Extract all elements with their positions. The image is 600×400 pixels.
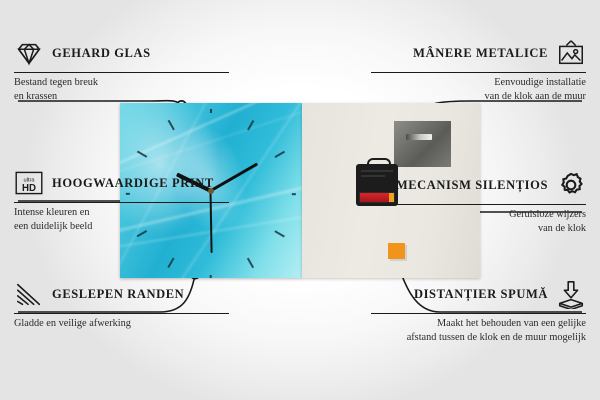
gear-icon [556,170,586,200]
wall-frame-icon [556,38,586,68]
hanger-slot [406,134,432,140]
feature-geslepen-randen: GESLEPEN RANDEN Gladde en veilige afwerk… [14,277,229,331]
feature-rule [371,72,586,73]
feature-rule [371,204,586,205]
feature-desc: Bestand tegen breuk en krassen [14,76,229,104]
feature-hoogwaardige-print: ultra HD HOOGWAARDIGE PRINT Intense kleu… [14,166,229,234]
feature-rule [371,313,586,314]
feature-gehard-glas: GEHARD GLAS Bestand tegen breuk en krass… [14,36,229,104]
diamond-icon [14,38,44,68]
foam-spacer [388,243,405,259]
feature-desc: Eenvoudige installatie van de klok aan d… [371,76,586,104]
spacer-arrow-icon [556,279,586,309]
feature-manere-metalice: MÂNERE METALICE Eenvoudige installatie v… [371,36,586,104]
feature-title: GEHARD GLAS [52,46,151,61]
feature-desc: Gladde en veilige afwerking [14,317,229,331]
feature-title: DISTANȚIER SPUMĂ [414,287,548,302]
feature-desc: Intense kleuren en een duidelijk beeld [14,206,229,234]
svg-text:HD: HD [22,183,36,194]
feature-desc: Maakt het behouden van een gelijke afsta… [371,317,586,345]
infographic-canvas: GEHARD GLAS Bestand tegen breuk en krass… [0,0,600,400]
feature-rule [14,72,229,73]
feature-desc: Geruisloze wijzers van de klok [371,208,586,236]
beveled-edges-icon [14,279,44,309]
feature-title: GESLEPEN RANDEN [52,287,184,302]
feature-title: HOOGWAARDIGE PRINT [52,176,214,191]
feature-title: MECANISM SILENȚIOS [396,178,548,193]
feature-rule [14,313,229,314]
feature-rule [14,202,229,203]
metal-hanger-plate [394,121,451,167]
feature-mecanism-silentios: MECANISM SILENȚIOS Geruisloze wijzers va… [371,168,586,236]
feature-distantier-spuma: DISTANȚIER SPUMĂ Maakt het behouden van … [371,277,586,345]
ultra-hd-icon: ultra HD [14,168,44,198]
feature-title: MÂNERE METALICE [413,46,548,61]
